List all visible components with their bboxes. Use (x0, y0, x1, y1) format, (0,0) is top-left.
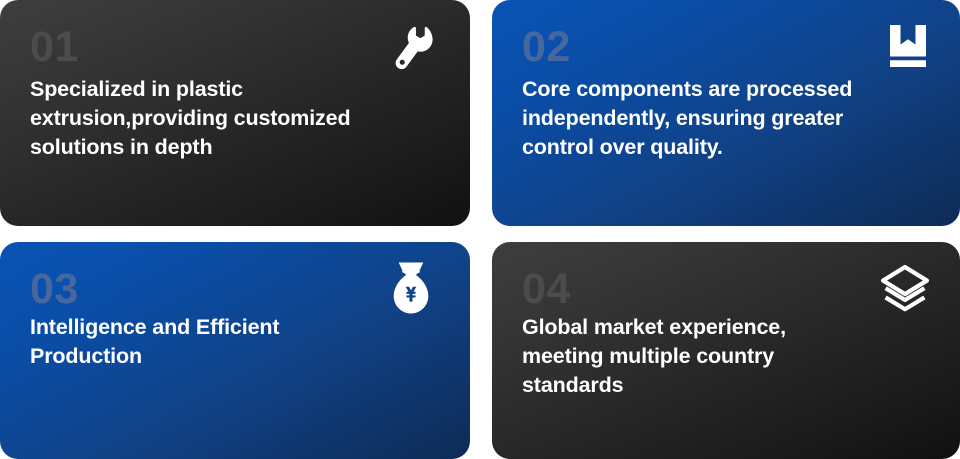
card-text-01: Specialized in plastic extrusion,providi… (30, 75, 444, 162)
feature-card-grid: 01 Specialized in plastic extrusion,prov… (0, 0, 960, 459)
feature-card-03[interactable]: 03 Intelligence and Efficient Production (0, 242, 470, 459)
feature-card-02[interactable]: 02 Core components are processed indepen… (492, 0, 960, 226)
card-number-04: 04 (522, 268, 934, 311)
card-number-03: 03 (30, 268, 444, 311)
card-number-02: 02 (522, 26, 934, 69)
card-text-03: Intelligence and Efficient Production (30, 313, 444, 371)
card-text-04: Global market experience, meeting multip… (522, 313, 934, 400)
card-number-01: 01 (30, 26, 444, 69)
feature-card-01[interactable]: 01 Specialized in plastic extrusion,prov… (0, 0, 470, 226)
feature-card-04[interactable]: 04 Global market experience, meeting mul… (492, 242, 960, 459)
card-text-02: Core components are processed independen… (522, 75, 934, 162)
